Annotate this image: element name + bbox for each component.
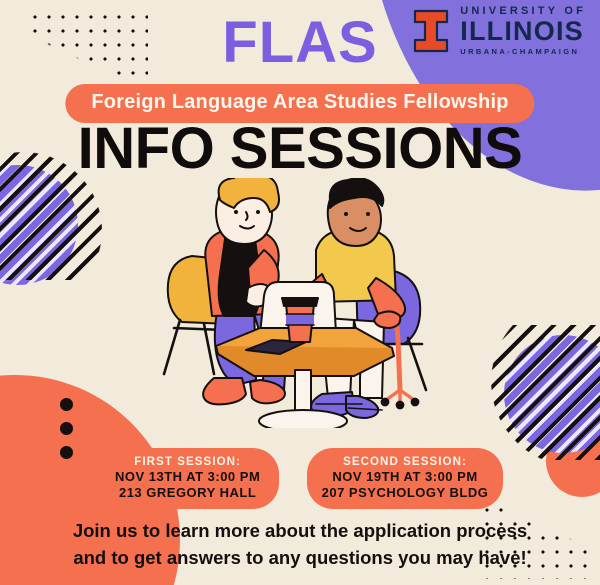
poster-canvas: UNIVERSITY OF ILLINOIS URBANA-CHAMPAIGN … — [0, 0, 600, 585]
diagonal-hatch-right-shape — [465, 325, 600, 460]
session-datetime: NOV 13TH AT 3:00 PM — [112, 469, 264, 485]
striped-circle-left-shape — [0, 165, 78, 285]
session-pill-first[interactable]: FIRST SESSION: NOV 13TH AT 3:00 PM 213 G… — [97, 448, 279, 509]
illinois-logo-lockup: UNIVERSITY OF ILLINOIS URBANA-CHAMPAIGN — [411, 6, 586, 56]
brand-line-illinois: ILLINOIS — [460, 18, 586, 45]
session-list: FIRST SESSION: NOV 13TH AT 3:00 PM 213 G… — [0, 448, 600, 509]
session-location: 207 PSYCHOLOGY BLDG — [322, 485, 489, 501]
session-datetime: NOV 19TH AT 3:00 PM — [322, 469, 489, 485]
illinois-block-i-icon — [411, 9, 451, 53]
illinois-wordmark: UNIVERSITY OF ILLINOIS URBANA-CHAMPAIGN — [460, 6, 586, 56]
footer-blurb: Join us to learn more about the applicat… — [0, 518, 600, 571]
dot-icon — [60, 422, 73, 435]
dot-icon — [60, 398, 73, 411]
striped-circle-right-shape — [504, 335, 600, 453]
brand-line-campus: URBANA-CHAMPAIGN — [460, 48, 586, 56]
session-title: SECOND SESSION: — [322, 455, 489, 469]
session-pill-second[interactable]: SECOND SESSION: NOV 19TH AT 3:00 PM 207 … — [307, 448, 504, 509]
headline-text: INFO SESSIONS — [0, 120, 600, 178]
two-people-at-table-illustration — [140, 178, 470, 428]
session-title: FIRST SESSION: — [112, 455, 264, 469]
session-location: 213 GREGORY HALL — [112, 485, 264, 501]
